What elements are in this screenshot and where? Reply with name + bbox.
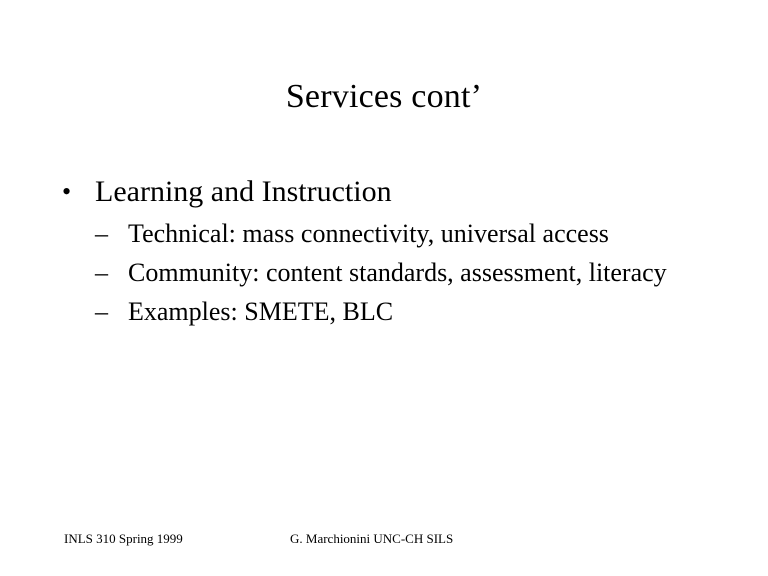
bullet-item-level2: – Technical: mass connectivity, universa…: [95, 214, 716, 253]
slide-title: Services cont’: [0, 76, 768, 118]
dash-marker-icon: –: [95, 292, 128, 331]
bullet-item-level2: – Examples: SMETE, BLC: [95, 292, 716, 331]
bullet-item-level2: – Community: content standards, assessme…: [95, 253, 716, 292]
bullet-text: Community: content standards, assessment…: [128, 253, 716, 292]
presentation-slide: Services cont’ • Learning and Instructio…: [0, 0, 768, 576]
slide-body: • Learning and Instruction – Technical: …: [56, 172, 716, 331]
bullet-text: Learning and Instruction: [95, 172, 716, 212]
bullet-marker-icon: •: [56, 172, 95, 212]
dash-marker-icon: –: [95, 253, 128, 292]
bullet-text: Technical: mass connectivity, universal …: [128, 214, 716, 253]
footer-course-label: INLS 310 Spring 1999: [64, 528, 183, 550]
bullet-item-level1: • Learning and Instruction: [56, 172, 716, 212]
slide-footer: INLS 310 Spring 1999 G. Marchionini UNC-…: [0, 528, 768, 550]
dash-marker-icon: –: [95, 214, 128, 253]
bullet-text: Examples: SMETE, BLC: [128, 292, 716, 331]
footer-author-label: G. Marchionini UNC-CH SILS: [290, 528, 453, 550]
